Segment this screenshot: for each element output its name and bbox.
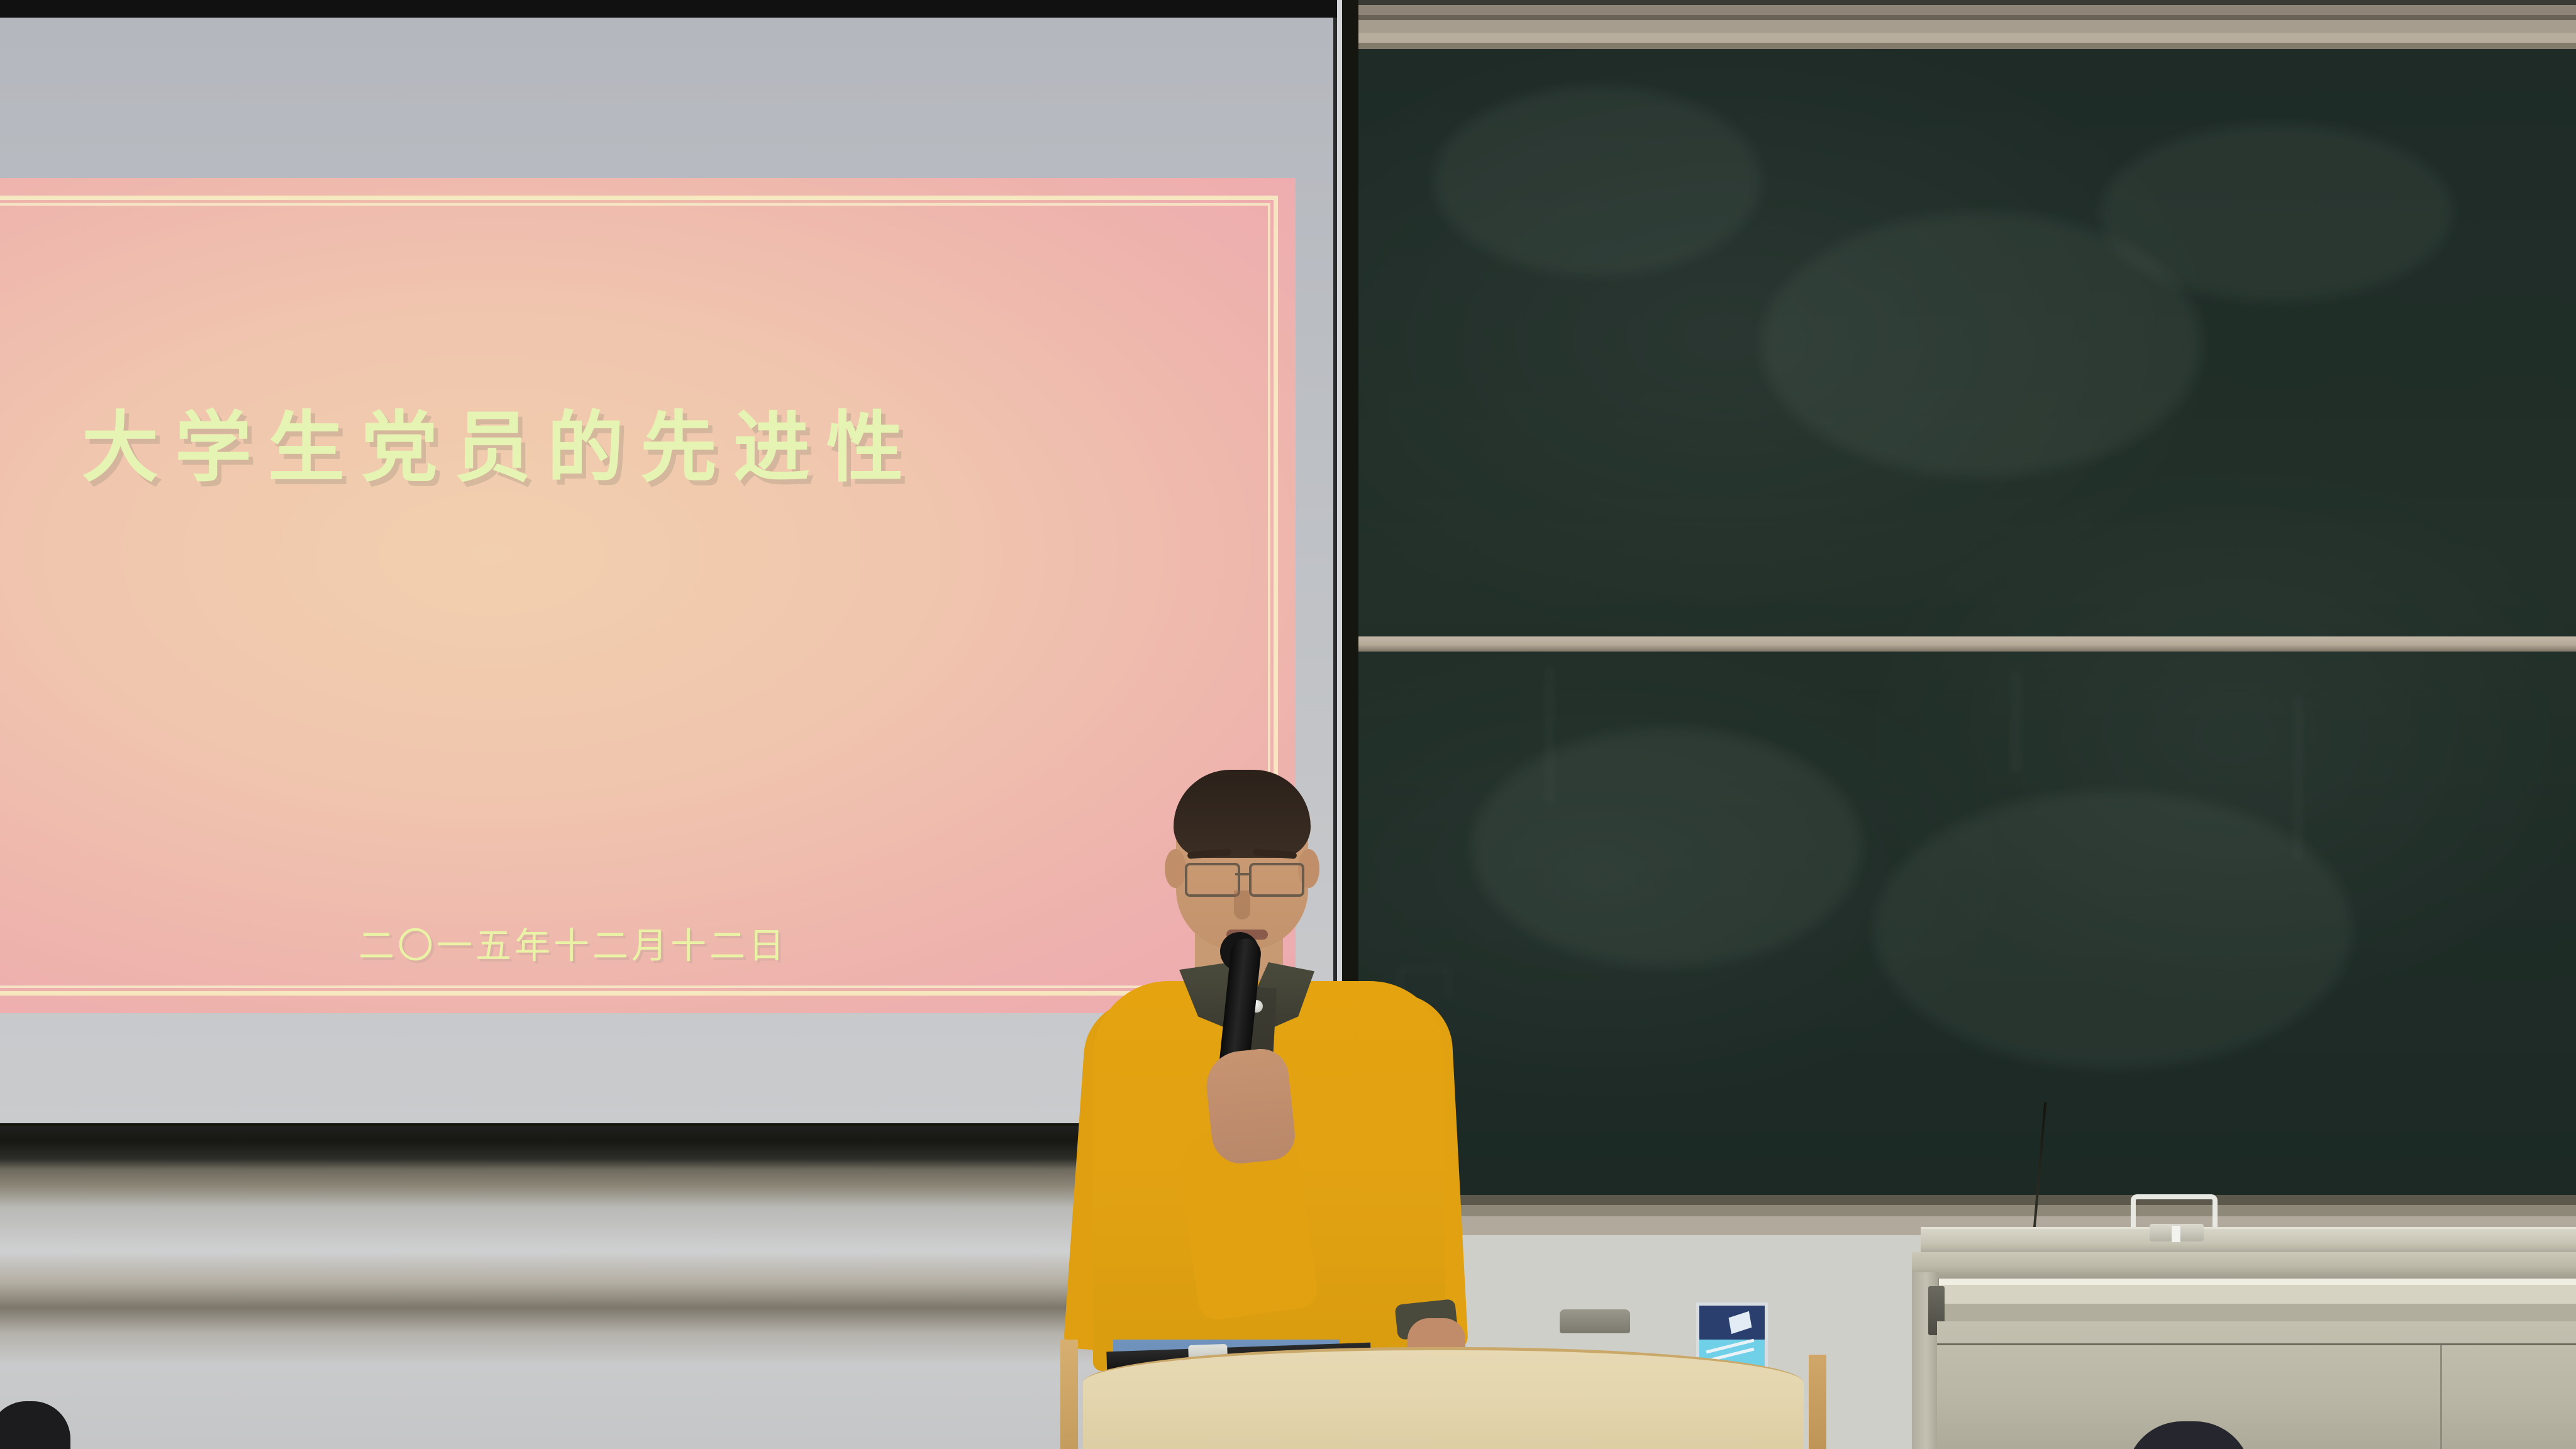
eyeglasses-lens-right <box>1249 863 1304 897</box>
hair <box>1174 770 1311 858</box>
slide-date: 二〇一五年十二月十二日 <box>358 917 787 969</box>
lectern-post-left <box>1060 1340 1078 1449</box>
teaching-console[interactable] <box>1912 1198 2576 1449</box>
speaker-person <box>1069 774 1459 1371</box>
lectern-post-right <box>1809 1355 1826 1449</box>
slide-title: 大学生党员的先进性 <box>82 386 919 497</box>
eyeglasses-bridge <box>1235 873 1249 875</box>
blackboard-middle-rail <box>1358 636 2576 652</box>
console-latch-pin <box>2172 1226 2180 1242</box>
blackboard-assembly <box>1337 0 2576 1195</box>
console-lid-top <box>1921 1227 2576 1254</box>
ear-left <box>1165 849 1186 888</box>
hand-holding-microphone <box>1203 1046 1297 1167</box>
blackboard-surface <box>1358 49 2576 1195</box>
nose <box>1234 891 1250 919</box>
eyeglasses-lens-left <box>1185 863 1240 897</box>
console-lid[interactable] <box>1912 1252 2576 1280</box>
console-drawer-seam <box>1937 1343 2576 1345</box>
lecture-hall-scene: 大学生党员的先进性 二〇一五年十二月十二日 <box>0 0 2576 1449</box>
lectern-front-panel <box>1083 1347 1804 1449</box>
console-lip <box>1937 1279 2576 1321</box>
blackboard-top-rail <box>1337 0 2576 49</box>
console-door-seam <box>2440 1345 2442 1449</box>
blackboard-eraser[interactable] <box>1560 1309 1630 1333</box>
console-body <box>1937 1321 2576 1449</box>
lectern <box>1057 1340 1830 1449</box>
